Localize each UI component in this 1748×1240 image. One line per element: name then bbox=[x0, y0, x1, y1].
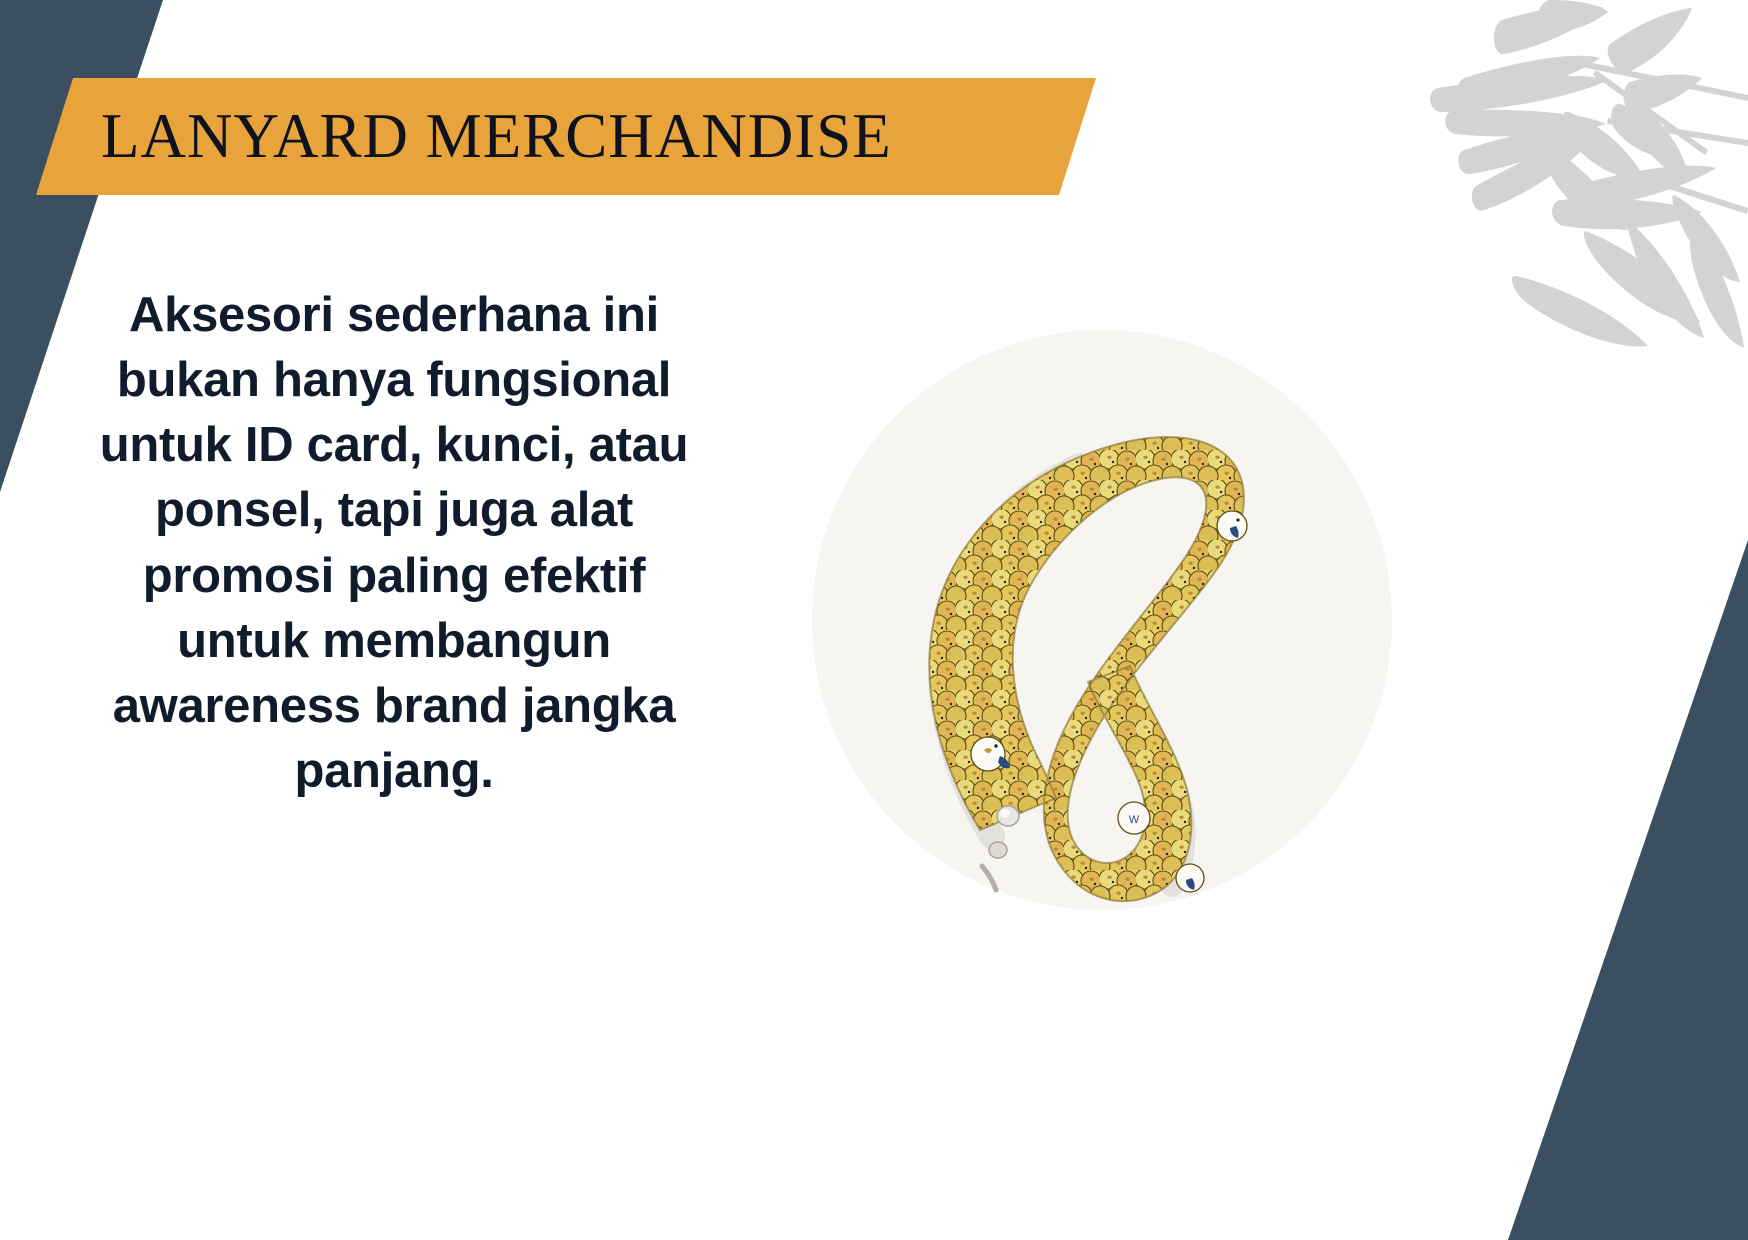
svg-text:W: W bbox=[1129, 814, 1140, 826]
slide-canvas: LANYARD MERCHANDISE Aksesori sederhana i… bbox=[0, 0, 1748, 1240]
navy-wedge-bottom-right-shape bbox=[1508, 540, 1748, 1240]
title-banner: LANYARD MERCHANDISE bbox=[36, 78, 1096, 195]
page-title: LANYARD MERCHANDISE bbox=[101, 105, 892, 168]
lanyard-product-image: W bbox=[812, 330, 1392, 910]
bamboo-leaves-icon bbox=[1278, 0, 1748, 350]
body-paragraph: Aksesori sederhana ini bukan hanya fungs… bbox=[74, 283, 714, 804]
product-figure: W bbox=[812, 330, 1392, 910]
